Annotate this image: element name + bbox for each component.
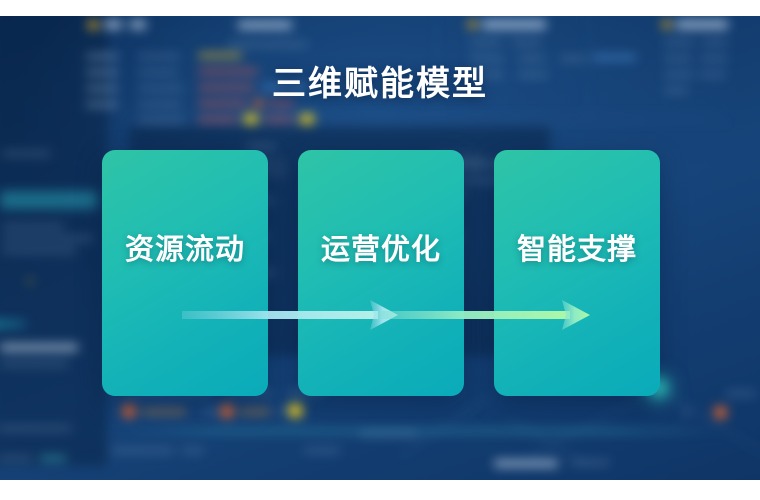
card-resource-flow[interactable]: 资源流动 (102, 150, 268, 396)
card-label: 运营优化 (321, 226, 441, 268)
card-label: 资源流动 (125, 226, 245, 268)
slide-root: 三维赋能模型 资源流动 (0, 0, 760, 500)
card-intelligent-support[interactable]: 智能支撑 (494, 150, 660, 396)
card-label: 智能支撑 (517, 226, 637, 268)
frame-top-margin (0, 0, 760, 16)
card-operations-optimization[interactable]: 运营优化 (298, 150, 464, 396)
frame-bottom-margin (0, 480, 760, 500)
page-title: 三维赋能模型 (0, 56, 760, 105)
